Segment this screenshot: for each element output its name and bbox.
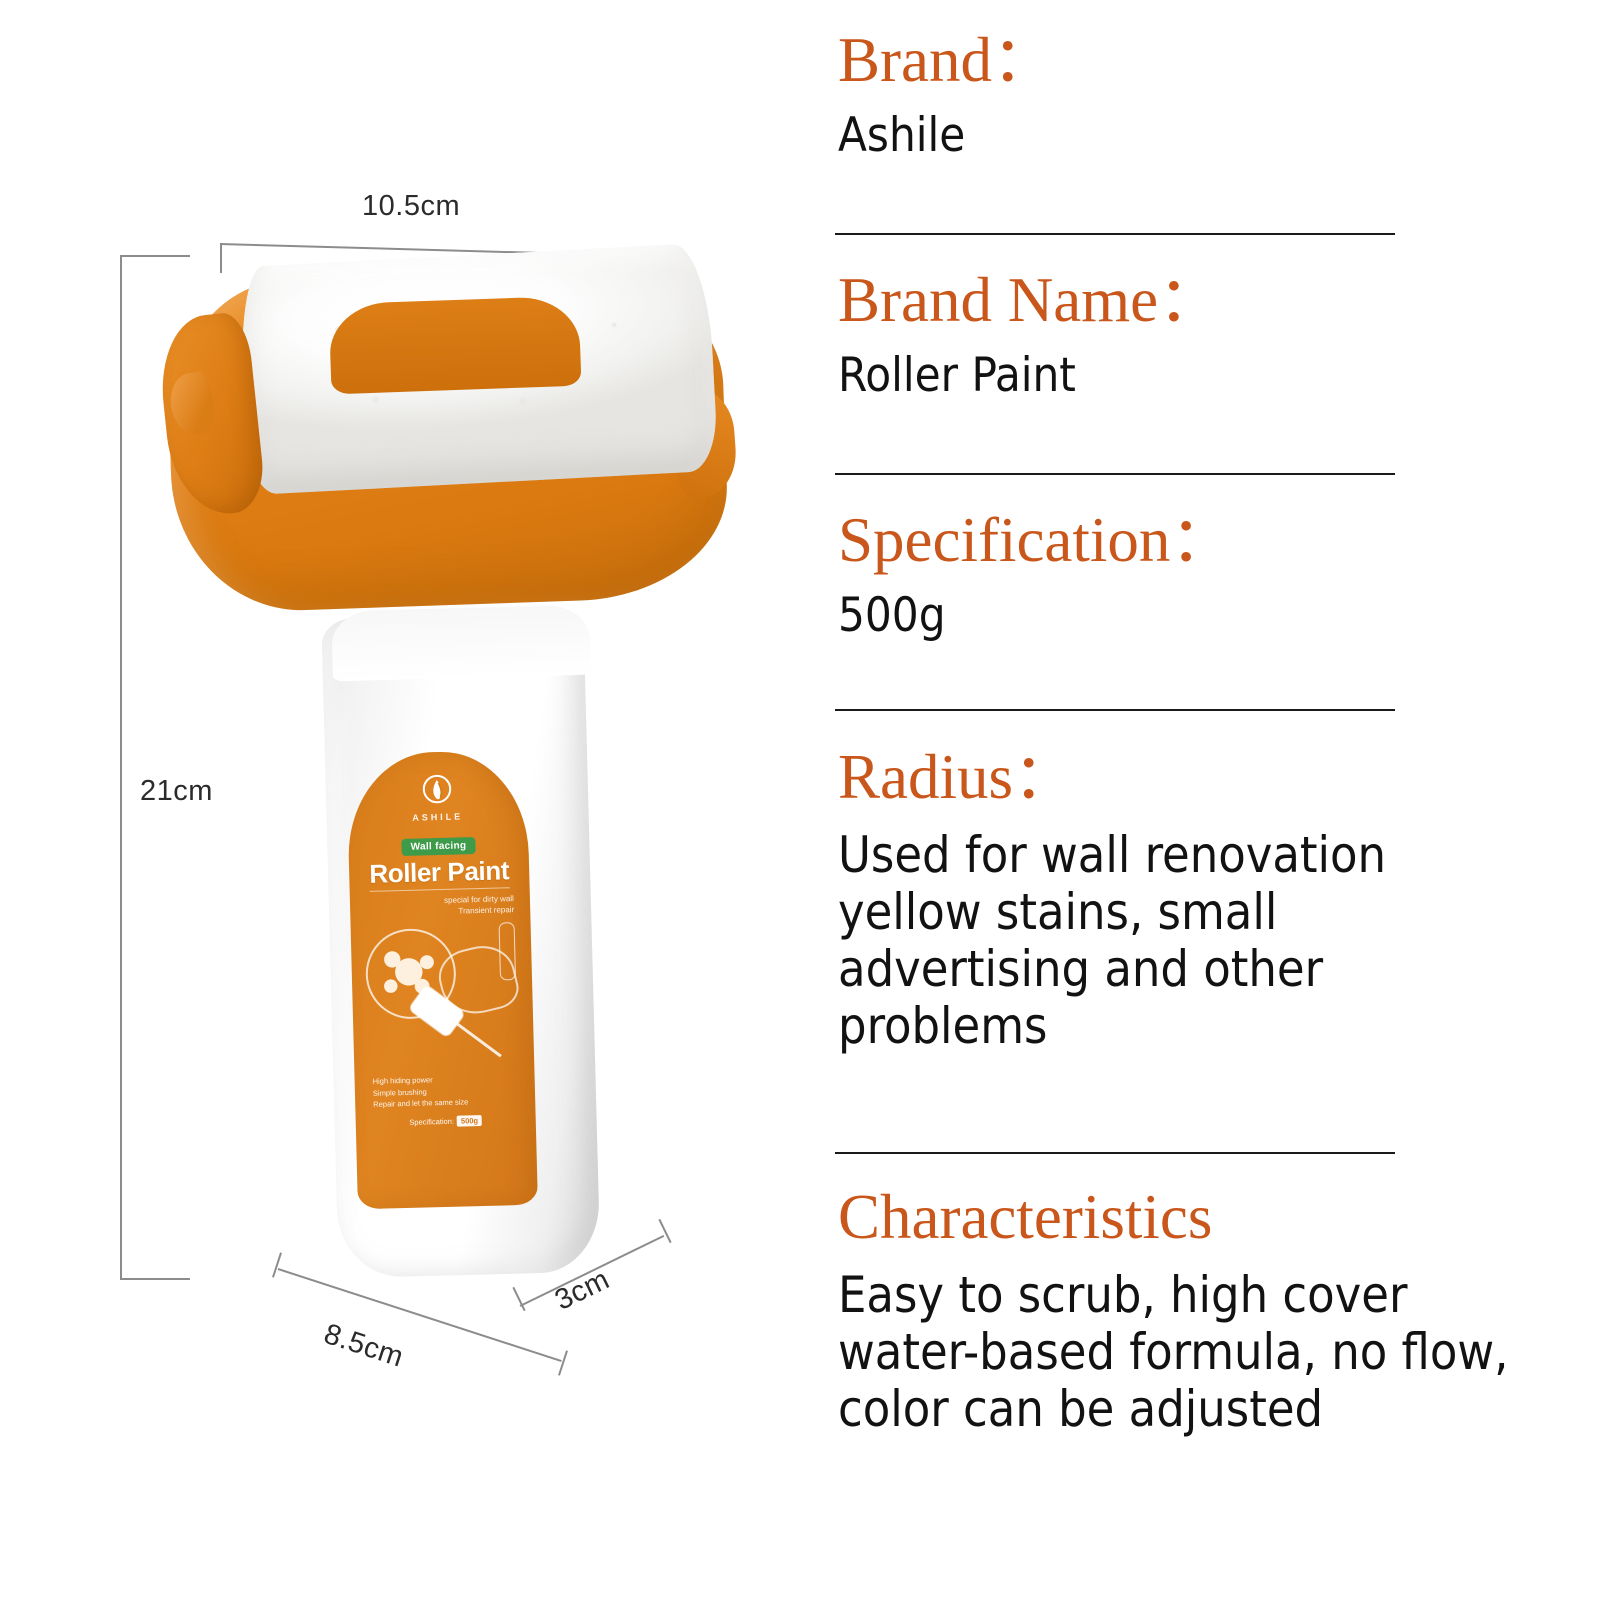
spec-heading-radius: Radius： [838,745,1538,809]
spec-divider-specification [835,709,1395,711]
label-subtitle: special for dirty wall Transient repair [362,894,519,920]
label-bullet-list: High hiding power Simple brushing Repair… [366,1072,523,1111]
spec-block-specification: Specification： 500g [838,508,1538,643]
label-badge-wall-facing: Wall facing [401,837,475,856]
spec-block-brand: Brand： Ashile [838,28,1538,163]
label-title: Roller Paint [361,857,518,888]
height-bracket-tick-bottom [120,1278,190,1280]
depth-side-tick-right [658,1219,671,1243]
spec-block-characteristics: Characteristics Easy to scrub, high cove… [838,1185,1538,1438]
label-artwork [363,920,523,1074]
label-specification-value: 500g [457,1115,482,1127]
depth-front-tick-left [272,1252,282,1277]
spec-value-characteristics: Easy to scrub, high cover water-based fo… [838,1267,1510,1438]
depth-side-tick-left [512,1287,525,1311]
label-art-handle [450,1018,502,1057]
spec-block-radius: Radius： Used for wall renovation yellow … [838,745,1538,1055]
label-specification: Specification:500g [368,1114,524,1129]
spec-heading-specification: Specification： [838,508,1538,572]
dimension-label-width: 10.5cm [362,190,460,223]
height-bracket-vertical [120,255,122,1280]
dimension-label-height: 21cm [140,775,213,808]
spec-value-specification: 500g [838,590,1498,643]
spec-heading-brand-name: Brand Name： [838,268,1538,332]
ashile-logo-icon [422,774,453,809]
bottle-neck [329,296,582,395]
label-art-tag [499,922,517,980]
spec-value-brand: Ashile [838,110,1498,163]
dimension-label-depth-front: 8.5cm [320,1318,408,1375]
spec-block-brand-name: Brand Name： Roller Paint [838,268,1538,403]
product-image-panel: 10.5cm 21cm [0,0,800,1600]
spec-divider-brand-name [835,473,1395,475]
depth-front-tick-right [558,1350,568,1375]
spec-divider-radius [835,1152,1395,1154]
label-specification-text: Specification: [409,1117,454,1127]
infographic-root: 10.5cm 21cm [0,0,1600,1600]
spec-heading-brand: Brand： [838,28,1538,92]
spec-value-radius: Used for wall renovation yellow stains, … [838,827,1510,1055]
label-bullet-item: Repair and let the same size [373,1095,523,1111]
spec-value-brand-name: Roller Paint [838,350,1498,403]
specification-panel: Brand： Ashile Brand Name： Roller Paint S… [800,0,1600,1600]
spec-divider-brand [835,233,1395,235]
dimension-label-depth-side: 3cm [550,1263,615,1317]
spec-heading-characteristics: Characteristics [838,1185,1538,1249]
bottle-shoulder [331,605,591,682]
product-label: ASHILE Wall facing Roller Paint special … [346,750,538,1210]
label-brand-mark: ASHILE [360,810,516,824]
